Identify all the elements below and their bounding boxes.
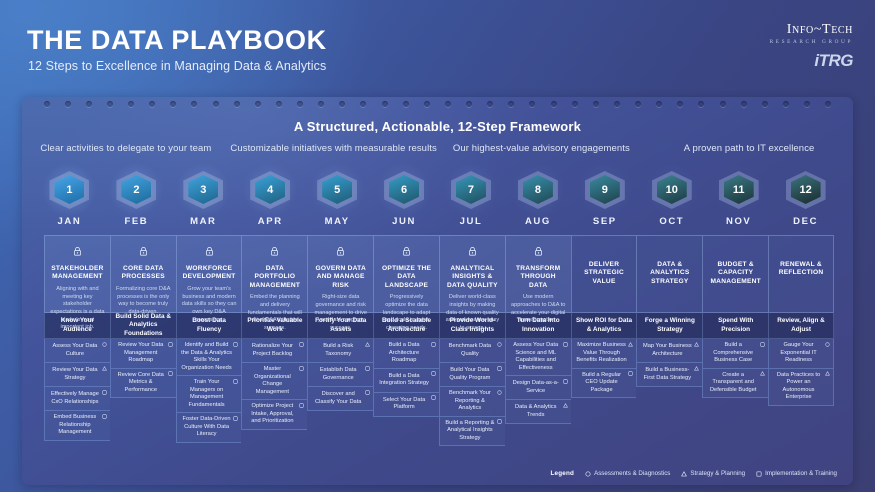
binding-hole bbox=[213, 101, 219, 107]
implementation-marker-icon bbox=[431, 395, 436, 400]
framework-promises: Clear activities to delegate to your tea… bbox=[22, 143, 853, 154]
strategy-marker-icon bbox=[694, 342, 699, 347]
initiative-cell[interactable]: Build a Comprehensive Business Case bbox=[702, 339, 768, 369]
step-column-1: STAKEHOLDER MANAGEMENTAligning with and … bbox=[44, 235, 110, 446]
hexagon-badge: 12 bbox=[784, 169, 828, 211]
initiative-label: Design Data-as-a-Service bbox=[510, 380, 562, 395]
strategy-marker-icon bbox=[760, 371, 765, 376]
binding-hole bbox=[825, 101, 831, 107]
initiative-cell[interactable]: Discover and Classify Your Data bbox=[307, 387, 373, 411]
step-card-6[interactable]: OPTIMIZE THE DATA LANDSCAPEProgressively… bbox=[373, 235, 439, 313]
hexagon-badge: 8 bbox=[516, 169, 560, 211]
month-step-aug[interactable]: 8AUG bbox=[504, 169, 571, 227]
legend-label: Implementation & Training bbox=[765, 470, 837, 477]
lock-icon bbox=[182, 243, 237, 261]
initiative-label: Build a Regular CEO Update Package bbox=[576, 372, 628, 395]
month-label: DEC bbox=[793, 216, 818, 227]
step-card-title: BUDGET & CAPACITY MANAGEMENT bbox=[708, 261, 763, 286]
hexagon-badge: 2 bbox=[114, 169, 158, 211]
initiative-cell[interactable]: Master Organizational Change Management bbox=[241, 363, 307, 400]
initiative-list: Maximize Business Value Through Benefits… bbox=[571, 339, 637, 398]
initiative-cell[interactable]: Benchmark Data Quality bbox=[439, 339, 505, 363]
month-label: SEP bbox=[593, 216, 617, 227]
lock-icon bbox=[445, 243, 500, 261]
step-card-description: Formalizing core D&A processes is the on… bbox=[116, 286, 171, 317]
legend-label: Strategy & Planning bbox=[690, 470, 745, 477]
step-card-4[interactable]: DATA PORTFOLIO MANAGEMENTEmbed the plann… bbox=[241, 235, 307, 313]
binding-hole bbox=[360, 101, 366, 107]
initiative-list: Map Your Business ArchitectureBuild a Bu… bbox=[636, 339, 702, 387]
binding-hole bbox=[720, 101, 726, 107]
month-label: APR bbox=[258, 216, 283, 227]
binding-hole bbox=[128, 101, 134, 107]
binding-hole bbox=[382, 101, 388, 107]
initiative-label: Data Practices to Power an Autonomous En… bbox=[773, 372, 824, 402]
strategy-marker-icon bbox=[825, 371, 830, 376]
initiative-list: Assess Your Data CultureReview Your Data… bbox=[44, 339, 110, 441]
month-label: OCT bbox=[659, 216, 684, 227]
spiral-binding-holes bbox=[22, 101, 853, 107]
month-label: AUG bbox=[525, 216, 551, 227]
implementation-marker-icon bbox=[497, 366, 502, 371]
hexagon-badge: 7 bbox=[449, 169, 493, 211]
month-step-sep[interactable]: 9SEP bbox=[571, 169, 638, 227]
implementation-marker-icon bbox=[233, 416, 238, 421]
binding-hole bbox=[170, 101, 176, 107]
binding-hole bbox=[762, 101, 768, 107]
framework-promise-3: Our highest-value advisory engagements bbox=[438, 143, 646, 154]
assessment-marker-icon bbox=[497, 390, 502, 395]
lock-icon bbox=[247, 243, 302, 261]
month-step-jul[interactable]: 7JUL bbox=[438, 169, 505, 227]
month-step-oct[interactable]: 10OCT bbox=[638, 169, 705, 227]
initiative-cell[interactable]: Effectively Manage CxO Relationships bbox=[44, 387, 110, 411]
step-card-title: RENEWAL & REFLECTION bbox=[774, 261, 828, 278]
hexagon-badge: 3 bbox=[181, 169, 225, 211]
step-card-8[interactable]: TRANSFORM THROUGH DATAUse modern approac… bbox=[505, 235, 571, 313]
step-card-title: WORKFORCE DEVELOPMENT bbox=[182, 265, 237, 282]
step-column-10: DATA & ANALYTICS STRATEGYForge a Winning… bbox=[636, 235, 702, 446]
implementation-marker-icon bbox=[756, 471, 762, 477]
step-card-5[interactable]: GOVERN DATA AND MANAGE RISKRight-size da… bbox=[307, 235, 373, 313]
initiative-label: Data & Analytics Trends bbox=[510, 404, 562, 419]
initiative-cell[interactable]: Create a Transparent and Defensible Budg… bbox=[702, 369, 768, 399]
binding-hole bbox=[107, 101, 113, 107]
initiative-cell[interactable]: Build a Regular CEO Update Package bbox=[571, 369, 637, 399]
month-step-apr[interactable]: 4APR bbox=[237, 169, 304, 227]
lock-icon bbox=[313, 243, 368, 261]
binding-hole bbox=[339, 101, 345, 107]
binding-hole bbox=[255, 101, 261, 107]
initiative-label: Select Your Data Platform bbox=[378, 397, 430, 412]
initiative-list: Build a Data Architecture RoadmapBuild a… bbox=[373, 339, 439, 417]
implementation-marker-icon bbox=[168, 342, 173, 347]
page-header: THE DATA PLAYBOOK 12 Steps to Excellence… bbox=[0, 0, 875, 92]
implementation-marker-icon bbox=[233, 379, 238, 384]
month-step-feb[interactable]: 2FEB bbox=[103, 169, 170, 227]
initiative-label: Establish Data Governance bbox=[312, 367, 364, 382]
binding-hole bbox=[86, 101, 92, 107]
implementation-marker-icon bbox=[102, 390, 107, 395]
step-theme-label: Build Solid Data & Analytics Foundations bbox=[110, 313, 176, 339]
brand-logo-block: Info~Tech RESEARCH GROUP iTRG bbox=[770, 22, 853, 71]
initiative-label: Assess Your Data Science and ML Capabili… bbox=[510, 342, 562, 372]
step-card-description: Grow your team's business and modern dat… bbox=[182, 286, 237, 325]
implementation-marker-icon bbox=[102, 414, 107, 419]
implementation-marker-icon bbox=[168, 371, 173, 376]
initiative-cell[interactable]: Data & Analytics Trends bbox=[505, 400, 571, 424]
initiative-cell[interactable]: Assess Your Data Culture bbox=[44, 339, 110, 363]
strategy-marker-icon bbox=[628, 342, 633, 347]
initiative-list: Benchmark Data QualityBuild Your Data Qu… bbox=[439, 339, 505, 446]
implementation-marker-icon bbox=[563, 342, 568, 347]
binding-hole bbox=[783, 101, 789, 107]
initiative-label: Gauge Your Exponential IT Readiness bbox=[773, 342, 824, 365]
step-card-title: TRANSFORM THROUGH DATA bbox=[511, 265, 566, 290]
month-step-nov[interactable]: 11NOV bbox=[705, 169, 772, 227]
month-step-may[interactable]: 5MAY bbox=[304, 169, 371, 227]
step-column-8: TRANSFORM THROUGH DATAUse modern approac… bbox=[505, 235, 571, 446]
framework-promise-4: A proven path to IT excellence bbox=[645, 143, 853, 154]
step-column-12: RENEWAL & REFLECTIONReview, Align & Adju… bbox=[768, 235, 834, 446]
implementation-marker-icon bbox=[431, 342, 436, 347]
binding-hole bbox=[804, 101, 810, 107]
hexagon-badge: 1 bbox=[47, 169, 91, 211]
implementation-marker-icon bbox=[497, 419, 502, 424]
step-card-title: GOVERN DATA AND MANAGE RISK bbox=[313, 265, 368, 290]
binding-hole bbox=[149, 101, 155, 107]
legend-label: Assessments & Diagnostics bbox=[594, 470, 670, 477]
binding-hole bbox=[403, 101, 409, 107]
initiative-cell[interactable]: Build Your Data Quality Program bbox=[439, 363, 505, 387]
initiative-label: Benchmark Your Reporting & Analytics bbox=[444, 390, 496, 413]
implementation-marker-icon bbox=[365, 390, 370, 395]
implementation-marker-icon bbox=[233, 342, 238, 347]
step-column-5: GOVERN DATA AND MANAGE RISKRight-size da… bbox=[307, 235, 373, 446]
framework-promise-2: Customizable initiatives with measurable… bbox=[230, 143, 438, 154]
step-theme-label: Review, Align & Adjust bbox=[768, 313, 834, 339]
initiative-cell[interactable]: Build a Reporting & Analytical Insights … bbox=[439, 417, 505, 447]
legend-item: Assessments & Diagnostics bbox=[585, 470, 670, 477]
initiative-label: Build a Reporting & Analytical Insights … bbox=[444, 420, 496, 443]
initiative-cell[interactable]: Establish Data Governance bbox=[307, 363, 373, 387]
month-step-jan[interactable]: 1JAN bbox=[36, 169, 103, 227]
initiative-cell[interactable]: Train Your Managers on Management Fundam… bbox=[176, 376, 242, 413]
month-label: MAR bbox=[190, 216, 216, 227]
step-column-2: CORE DATA PROCESSESFormalizing core D&A … bbox=[110, 235, 176, 446]
initiative-cell[interactable]: Optimize Project Intake, Approval, and P… bbox=[241, 400, 307, 430]
implementation-marker-icon bbox=[760, 342, 765, 347]
initiative-cell[interactable]: Review Your Data Management Roadmap bbox=[110, 339, 176, 369]
legend-item: Implementation & Training bbox=[756, 470, 837, 477]
binding-hole bbox=[445, 101, 451, 107]
implementation-marker-icon bbox=[431, 371, 436, 376]
step-card-title: DATA & ANALYTICS STRATEGY bbox=[642, 261, 697, 286]
binding-hole bbox=[297, 101, 303, 107]
strategy-marker-icon bbox=[102, 366, 107, 371]
initiative-cell[interactable]: Benchmark Your Reporting & Analytics bbox=[439, 387, 505, 417]
framework-promise-1: Clear activities to delegate to your tea… bbox=[22, 143, 230, 154]
step-card-description: Deliver world-class insights by making d… bbox=[445, 294, 500, 333]
initiative-cell[interactable]: Rationalize Your Project Backlog bbox=[241, 339, 307, 363]
initiative-cell[interactable]: Foster Data-Driven Culture With Data Lit… bbox=[176, 413, 242, 443]
implementation-marker-icon bbox=[299, 366, 304, 371]
itrg-logo: iTRG bbox=[770, 51, 853, 71]
initiative-cell[interactable]: Maximize Business Value Through Benefits… bbox=[571, 339, 637, 369]
initiative-cell[interactable]: Gauge Your Exponential IT Readiness bbox=[768, 339, 834, 369]
legend-title: Legend bbox=[550, 470, 574, 477]
binding-hole bbox=[234, 101, 240, 107]
step-card-3[interactable]: WORKFORCE DEVELOPMENTGrow your team's bu… bbox=[176, 235, 242, 313]
hexagon-badge: 11 bbox=[717, 169, 761, 211]
binding-hole bbox=[529, 101, 535, 107]
initiative-label: Optimize Project Intake, Approval, and P… bbox=[246, 403, 298, 426]
binding-hole bbox=[65, 101, 71, 107]
strategy-marker-icon bbox=[681, 471, 687, 477]
step-card-7[interactable]: ANALYTICAL INSIGHTS & DATA QUALITYDelive… bbox=[439, 235, 505, 313]
binding-hole bbox=[614, 101, 620, 107]
legend-item: Strategy & Planning bbox=[681, 470, 745, 477]
initiative-label: Master Organizational Change Management bbox=[246, 366, 298, 396]
month-label: JUL bbox=[460, 216, 483, 227]
initiative-list: Review Your Data Management RoadmapRevie… bbox=[110, 339, 176, 398]
strategy-marker-icon bbox=[563, 403, 568, 408]
legend-items: Assessments & DiagnosticsStrategy & Plan… bbox=[585, 470, 837, 477]
initiative-cell[interactable]: Assess Your Data Science and ML Capabili… bbox=[505, 339, 571, 376]
initiative-label: Review Your Data Management Roadmap bbox=[115, 342, 167, 365]
implementation-marker-icon bbox=[299, 403, 304, 408]
implementation-marker-icon bbox=[365, 366, 370, 371]
implementation-marker-icon bbox=[299, 342, 304, 347]
initiative-cell[interactable]: Review Core Data Metrics & Performance bbox=[110, 369, 176, 399]
initiative-cell[interactable]: Review Your Data Strategy bbox=[44, 363, 110, 387]
hexagon-badge: 9 bbox=[583, 169, 627, 211]
initiative-cell[interactable]: Identify and Build the Data & Analytics … bbox=[176, 339, 242, 376]
initiative-label: Embed Business Relationship Management bbox=[49, 414, 101, 437]
binding-hole bbox=[593, 101, 599, 107]
step-theme-label: Forge a Winning Strategy bbox=[636, 313, 702, 339]
step-card-10[interactable]: DATA & ANALYTICS STRATEGY bbox=[636, 235, 702, 313]
step-card-description: Progressively optimize the data landscap… bbox=[379, 294, 434, 333]
step-card-1[interactable]: STAKEHOLDER MANAGEMENTAligning with and … bbox=[44, 235, 110, 313]
step-column-9: DELIVER STRATEGIC VALUEShow ROI for Data… bbox=[571, 235, 637, 446]
hexagon-badge: 4 bbox=[248, 169, 292, 211]
initiative-label: Map Your Business Architecture bbox=[641, 343, 693, 358]
month-timeline: 1JAN2FEB3MAR4APR5MAY6JUN7JUL8AUG9SEP10OC… bbox=[36, 169, 839, 227]
initiative-label: Build a Data Integration Strategy bbox=[378, 373, 430, 388]
step-card-title: ANALYTICAL INSIGHTS & DATA QUALITY bbox=[445, 265, 500, 290]
assessment-marker-icon bbox=[497, 342, 502, 347]
initiative-label: Assess Your Data Culture bbox=[49, 343, 101, 358]
lock-icon bbox=[116, 243, 171, 261]
month-label: JUN bbox=[392, 216, 416, 227]
binding-hole bbox=[487, 101, 493, 107]
initiative-cell[interactable]: Build a Risk Taxonomy bbox=[307, 339, 373, 363]
initiative-cell[interactable]: Build a Data Architecture Roadmap bbox=[373, 339, 439, 369]
step-column-3: WORKFORCE DEVELOPMENTGrow your team's bu… bbox=[176, 235, 242, 446]
initiative-list: Build a Comprehensive Business CaseCreat… bbox=[702, 339, 768, 398]
assessment-marker-icon bbox=[102, 342, 107, 347]
step-card-title: DELIVER STRATEGIC VALUE bbox=[577, 261, 632, 286]
initiative-label: Identify and Build the Data & Analytics … bbox=[181, 342, 233, 372]
step-card-11[interactable]: BUDGET & CAPACITY MANAGEMENT bbox=[702, 235, 768, 313]
initiative-list: Gauge Your Exponential IT ReadinessData … bbox=[768, 339, 834, 406]
page-subtitle: 12 Steps to Excellence in Managing Data … bbox=[28, 59, 326, 73]
step-card-title: OPTIMIZE THE DATA LANDSCAPE bbox=[379, 265, 434, 290]
initiative-label: Build a Business-First Data Strategy bbox=[641, 367, 693, 382]
step-card-description: Use modern approaches to D&A to accelera… bbox=[511, 294, 566, 325]
hexagon-badge: 5 bbox=[315, 169, 359, 211]
step-card-title: CORE DATA PROCESSES bbox=[116, 265, 171, 282]
step-card-description: Right-size data governance and risk mana… bbox=[313, 294, 368, 333]
initiative-label: Train Your Managers on Management Fundam… bbox=[181, 379, 233, 409]
binding-hole bbox=[635, 101, 641, 107]
binding-hole bbox=[572, 101, 578, 107]
initiative-label: Build Your Data Quality Program bbox=[444, 367, 496, 382]
implementation-marker-icon bbox=[628, 371, 633, 376]
strategy-marker-icon bbox=[365, 342, 370, 347]
brand-tagline: RESEARCH GROUP bbox=[770, 39, 853, 45]
month-label: NOV bbox=[726, 216, 751, 227]
month-step-dec[interactable]: 12DEC bbox=[772, 169, 839, 227]
initiative-label: Build a Comprehensive Business Case bbox=[707, 342, 759, 365]
initiative-cell[interactable]: Embed Business Relationship Management bbox=[44, 411, 110, 441]
legend: Legend Assessments & DiagnosticsStrategy… bbox=[550, 470, 837, 477]
lock-icon bbox=[379, 243, 434, 261]
initiative-label: Rationalize Your Project Backlog bbox=[246, 343, 298, 358]
initiative-cell[interactable]: Data Practices to Power an Autonomous En… bbox=[768, 369, 834, 406]
step-card-title: DATA PORTFOLIO MANAGEMENT bbox=[247, 265, 302, 290]
assessment-marker-icon bbox=[585, 471, 591, 477]
initiative-label: Review Core Data Metrics & Performance bbox=[115, 372, 167, 395]
initiative-label: Create a Transparent and Defensible Budg… bbox=[707, 372, 759, 395]
step-column-7: ANALYTICAL INSIGHTS & DATA QUALITYDelive… bbox=[439, 235, 505, 446]
initiative-label: Build a Risk Taxonomy bbox=[312, 343, 364, 358]
initiative-label: Effectively Manage CxO Relationships bbox=[49, 391, 101, 406]
binding-hole bbox=[698, 101, 704, 107]
initiative-label: Foster Data-Driven Culture With Data Lit… bbox=[181, 416, 233, 439]
binding-hole bbox=[466, 101, 472, 107]
step-card-description: Aligning with and meeting key stakeholde… bbox=[50, 286, 105, 332]
month-step-mar[interactable]: 3MAR bbox=[170, 169, 237, 227]
initiative-label: Discover and Classify Your Data bbox=[312, 391, 364, 406]
step-theme-label: Spend With Precision bbox=[702, 313, 768, 339]
hexagon-badge: 10 bbox=[650, 169, 694, 211]
strategy-marker-icon bbox=[694, 366, 699, 371]
implementation-marker-icon bbox=[563, 379, 568, 384]
initiative-list: Build a Risk TaxonomyEstablish Data Gove… bbox=[307, 339, 373, 411]
step-card-12[interactable]: RENEWAL & REFLECTION bbox=[768, 235, 834, 313]
binding-hole bbox=[508, 101, 514, 107]
brand-name: Info~Tech bbox=[770, 22, 853, 38]
month-label: JAN bbox=[58, 216, 82, 227]
step-column-11: BUDGET & CAPACITY MANAGEMENTSpend With P… bbox=[702, 235, 768, 446]
initiative-list: Rationalize Your Project BacklogMaster O… bbox=[241, 339, 307, 430]
month-label: FEB bbox=[124, 216, 148, 227]
step-theme-label: Show ROI for Data & Analytics bbox=[571, 313, 637, 339]
binding-hole bbox=[191, 101, 197, 107]
initiative-cell[interactable]: Select Your Data Platform bbox=[373, 393, 439, 417]
lock-icon bbox=[511, 243, 566, 261]
binding-hole bbox=[677, 101, 683, 107]
initiative-cell[interactable]: Design Data-as-a-Service bbox=[505, 376, 571, 400]
step-card-9[interactable]: DELIVER STRATEGIC VALUE bbox=[571, 235, 637, 313]
initiative-label: Benchmark Data Quality bbox=[444, 343, 496, 358]
initiative-cell[interactable]: Map Your Business Architecture bbox=[636, 339, 702, 363]
binding-hole bbox=[318, 101, 324, 107]
framework-headline: A Structured, Actionable, 12-Step Framew… bbox=[22, 119, 853, 134]
step-card-title: STAKEHOLDER MANAGEMENT bbox=[50, 265, 105, 282]
initiative-list: Identify and Build the Data & Analytics … bbox=[176, 339, 242, 443]
binding-hole bbox=[656, 101, 662, 107]
binding-hole bbox=[44, 101, 50, 107]
step-column-6: OPTIMIZE THE DATA LANDSCAPEProgressively… bbox=[373, 235, 439, 446]
step-column-4: DATA PORTFOLIO MANAGEMENTEmbed the plann… bbox=[241, 235, 307, 446]
initiative-cell[interactable]: Build a Business-First Data Strategy bbox=[636, 363, 702, 387]
twelve-step-grid: STAKEHOLDER MANAGEMENTAligning with and … bbox=[44, 235, 834, 446]
binding-hole bbox=[551, 101, 557, 107]
hexagon-badge: 6 bbox=[382, 169, 426, 211]
binding-hole bbox=[424, 101, 430, 107]
assessment-marker-icon bbox=[825, 342, 830, 347]
step-card-2[interactable]: CORE DATA PROCESSESFormalizing core D&A … bbox=[110, 235, 176, 313]
month-label: MAY bbox=[325, 216, 350, 227]
initiative-label: Review Your Data Strategy bbox=[49, 367, 101, 382]
initiative-cell[interactable]: Build a Data Integration Strategy bbox=[373, 369, 439, 393]
page-title: THE DATA PLAYBOOK bbox=[27, 25, 327, 56]
binding-hole bbox=[276, 101, 282, 107]
initiative-list: Assess Your Data Science and ML Capabili… bbox=[505, 339, 571, 424]
initiative-label: Maximize Business Value Through Benefits… bbox=[576, 342, 628, 365]
initiative-label: Build a Data Architecture Roadmap bbox=[378, 342, 430, 365]
month-step-jun[interactable]: 6JUN bbox=[371, 169, 438, 227]
step-card-description: Embed the planning and delivery fundamen… bbox=[247, 294, 302, 333]
lock-icon bbox=[50, 243, 105, 261]
playbook-panel: A Structured, Actionable, 12-Step Framew… bbox=[22, 97, 853, 485]
binding-hole bbox=[741, 101, 747, 107]
